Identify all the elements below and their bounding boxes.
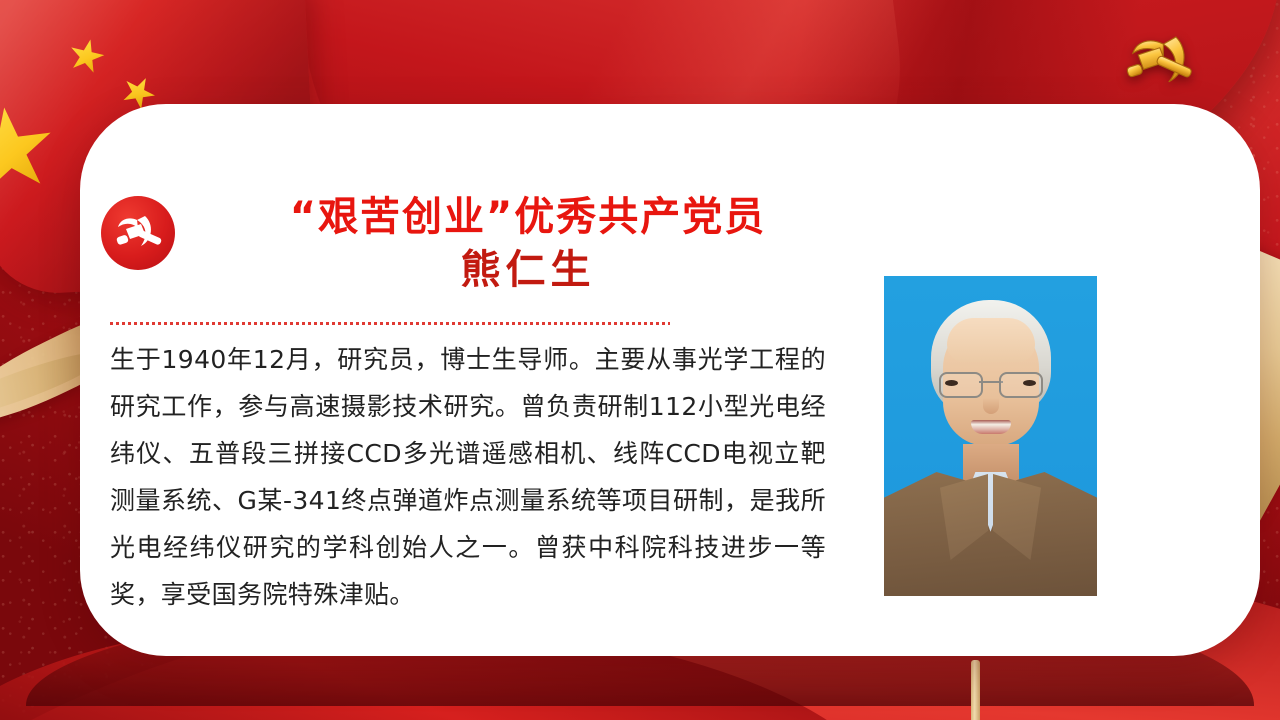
portrait-lens-right xyxy=(999,372,1043,398)
slide-root: “艰苦创业”优秀共产党员 熊仁生 生于1940年12月，研究员，博士生导师。主要… xyxy=(0,0,1280,720)
person-name: 熊仁生 xyxy=(198,244,858,295)
portrait-mouth xyxy=(971,420,1011,434)
content-card: “艰苦创业”优秀共产党员 熊仁生 生于1940年12月，研究员，博士生导师。主要… xyxy=(80,104,1260,656)
portrait-alt-text: 熊仁生证件照 xyxy=(884,276,885,277)
portrait-photo: 熊仁生证件照 xyxy=(884,276,1097,596)
dotted-divider xyxy=(110,322,670,325)
page-title: “艰苦创业”优秀共产党员 xyxy=(198,192,858,242)
portrait-lens-left xyxy=(939,372,983,398)
party-badge-icon xyxy=(101,196,175,270)
portrait-nose xyxy=(983,398,999,414)
gold-ribbon-stem-icon xyxy=(971,660,980,720)
hammer-and-sickle-emblem-icon xyxy=(1112,28,1204,98)
biography-text: 生于1940年12月，研究员，博士生导师。主要从事光学工程的研究工作，参与高速摄… xyxy=(110,336,826,618)
title-block: “艰苦创业”优秀共产党员 熊仁生 xyxy=(198,192,858,295)
portrait-eye-left xyxy=(945,380,958,386)
portrait-forehead xyxy=(947,318,1035,362)
portrait-eye-right xyxy=(1023,380,1036,386)
